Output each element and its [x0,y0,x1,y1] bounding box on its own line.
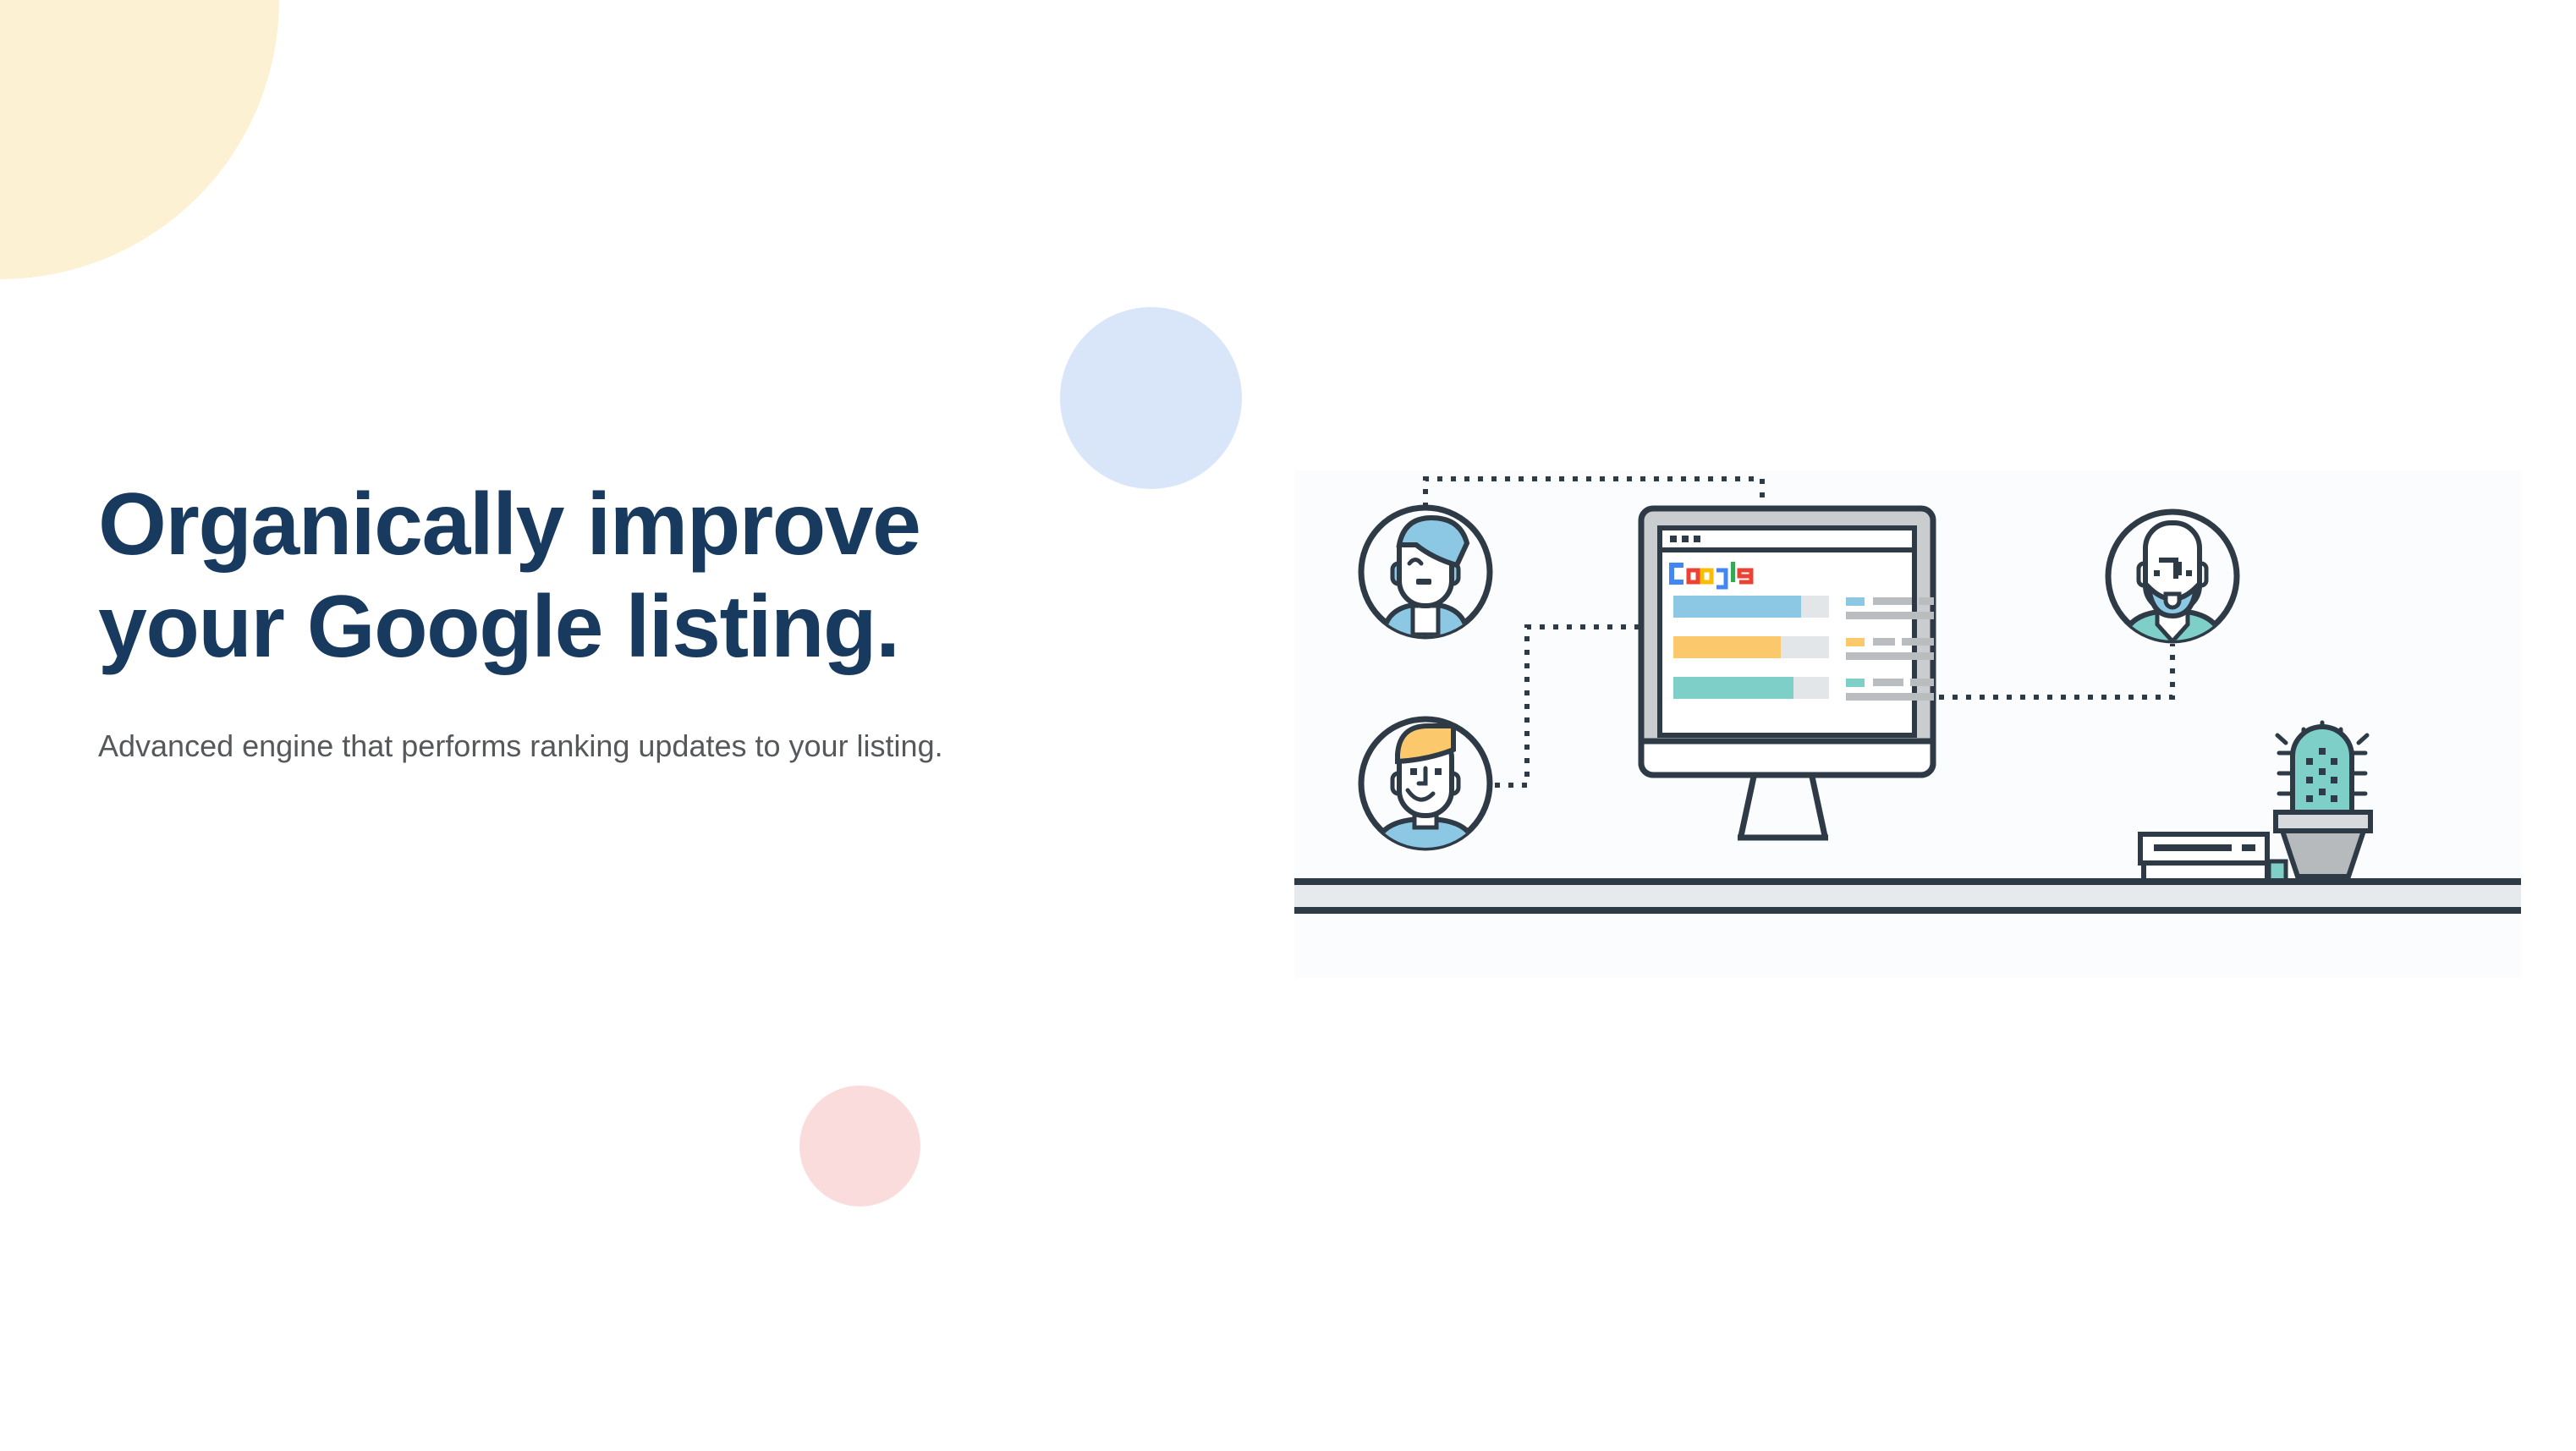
side-row-1-line-a [1873,597,1912,605]
cactus-pot [2282,831,2364,877]
avatar-top-left-mouth [1416,579,1431,585]
avatar-right-eye-right [2186,570,2192,576]
desk-top [1294,882,2521,910]
monitor-screen [1660,528,1914,735]
page-subtitle: Advanced engine that performs ranking up… [98,725,1198,767]
seo-illustration-svg [1294,470,2521,978]
avatar-bottom-left-eye-right [1435,768,1442,775]
book-stack [2140,834,2286,882]
result-bar-2-fill [1673,636,1781,658]
side-row-1-chip [1846,597,1865,606]
result-bar-3-fill [1673,677,1793,699]
cream-circle-decoration [0,0,279,279]
side-row-2-line-a [1873,638,1895,646]
side-row-3-line-c [1846,693,1934,701]
avatar-bottom-left-eye-left [1410,768,1417,775]
avatar-bottom-left [1361,719,1490,853]
monitor-chin [1641,741,1933,775]
avatar-right-mouth [2166,594,2179,607]
search-result-bars [1673,596,1829,699]
side-row-3-chip [1846,679,1865,687]
side-row-2-line-b [1902,638,1934,646]
browser-window-dots [1670,536,1700,542]
side-row-2-line-c [1846,652,1934,660]
avatar-top-left [1361,508,1490,640]
result-bar-1-fill [1673,596,1801,618]
side-row-3-line-b [1910,679,1934,686]
avatar-right-eye-left [2154,570,2160,576]
avatar-top-left-collar [1413,606,1438,635]
book-stack-top-line [2154,844,2232,851]
side-row-1-line-c [1846,612,1934,619]
book-stack-top-dash [2242,844,2255,851]
hero-illustration [1294,470,2521,978]
hero-copy-block: Organically improve your Google listing.… [98,474,1198,768]
side-row-3-line-a [1873,679,1903,686]
cactus-pot-rim [2276,812,2370,831]
side-row-2-chip [1846,638,1865,646]
avatar-right [2108,512,2237,645]
page-title: Organically improve your Google listing. [98,474,1096,678]
pink-circle-decoration [799,1086,920,1206]
blue-circle-decoration [1060,307,1242,489]
side-row-1-line-b [1919,597,1934,605]
desk-surface [1294,882,2521,910]
